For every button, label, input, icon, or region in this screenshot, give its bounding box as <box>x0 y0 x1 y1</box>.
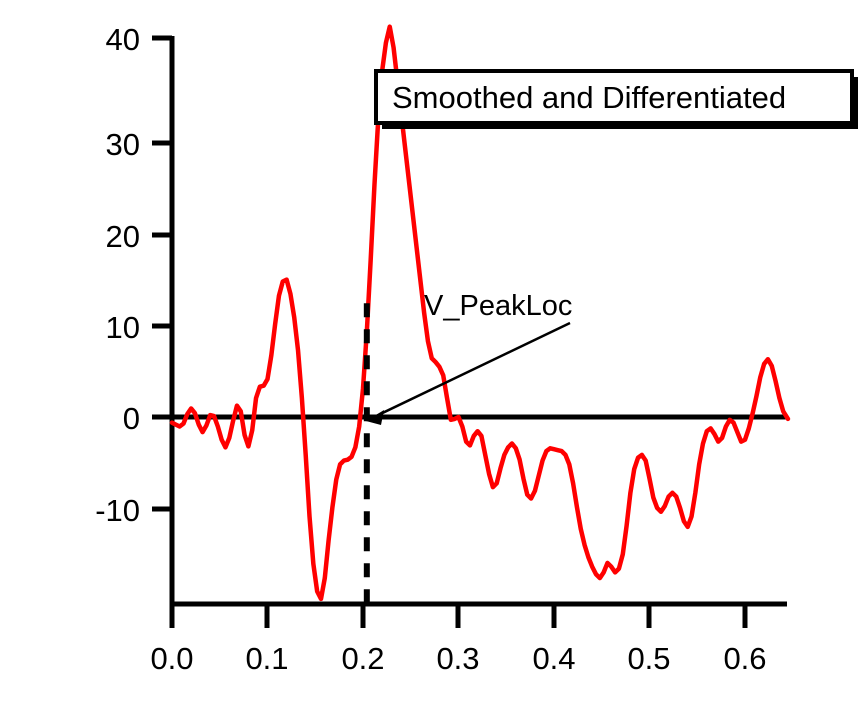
x-tick-label-0p4: 0.4 <box>532 641 575 676</box>
chart-title-label: Smoothed and Differentiated <box>392 80 786 115</box>
chart-title-box: Smoothed and Differentiated <box>376 71 858 129</box>
annotation-leader-line <box>372 323 570 418</box>
x-tick-label-0p2: 0.2 <box>341 641 384 676</box>
x-axis-tick-labels: 0.0 0.1 0.2 0.3 0.4 0.5 0.6 <box>150 641 766 676</box>
annotation-label-v-peakloc: V_PeakLoc <box>424 290 572 322</box>
x-tick-label-0p1: 0.1 <box>245 641 288 676</box>
chart-figure: 40 30 20 10 0 -10 0.0 0.1 0.2 0.3 0.4 0.… <box>0 0 867 723</box>
y-axis-tick-labels: 40 30 20 10 0 -10 <box>95 22 140 528</box>
y-axis-ticks <box>152 38 172 509</box>
y-tick-label-10: 10 <box>106 310 140 345</box>
x-axis-ticks <box>172 604 745 628</box>
y-tick-label-neg10: -10 <box>95 493 140 528</box>
x-tick-label-0p3: 0.3 <box>436 641 479 676</box>
x-tick-label-0p5: 0.5 <box>627 641 670 676</box>
y-tick-label-0: 0 <box>123 401 140 436</box>
y-tick-label-40: 40 <box>106 22 140 57</box>
x-tick-label-0p6: 0.6 <box>723 641 766 676</box>
x-tick-label-0p0: 0.0 <box>150 641 193 676</box>
y-tick-label-20: 20 <box>106 219 140 254</box>
chart-svg: 40 30 20 10 0 -10 0.0 0.1 0.2 0.3 0.4 0.… <box>0 0 867 723</box>
y-tick-label-30: 30 <box>106 127 140 162</box>
annotation-arrow <box>366 323 570 425</box>
